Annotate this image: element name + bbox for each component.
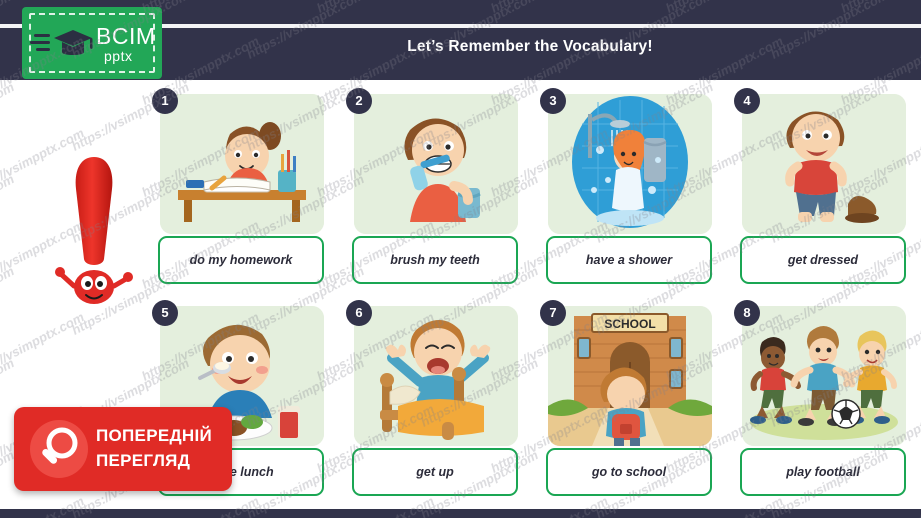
card-image-have-a-shower — [548, 94, 712, 234]
preview-badge-line-1: ПОПЕРЕДНІЙ — [96, 423, 224, 448]
card-number-badge: 4 — [734, 88, 760, 114]
preview-badge: ПОПЕРЕДНІЙ ПЕРЕГЛЯД — [14, 407, 232, 491]
exclamation-mark-character — [52, 155, 136, 305]
logo-brand-text: BCIM — [96, 23, 156, 50]
card-number-badge: 7 — [540, 300, 566, 326]
card-label[interactable]: get up — [352, 448, 518, 496]
watermark-text: https://vsimpptx.com — [0, 263, 17, 338]
preview-badge-line-2: ПЕРЕГЛЯД — [96, 448, 224, 473]
vocabulary-card[interactable]: SCHOOL — [540, 300, 712, 495]
graduation-cap-icon — [52, 27, 94, 61]
card-number-badge: 2 — [346, 88, 372, 114]
bottom-bar-divider — [0, 506, 921, 509]
vocabulary-card-grid: 1 do my homework — [152, 88, 906, 498]
slide-canvas: Let’s Remember the Vocabulary! BCIM pptx — [0, 0, 921, 518]
card-number-badge: 1 — [152, 88, 178, 114]
card-label[interactable]: have a shower — [546, 236, 712, 284]
vocabulary-card[interactable]: 4 get dressed — [734, 88, 906, 283]
card-label[interactable]: play football — [740, 448, 906, 496]
card-image-go-to-school: SCHOOL — [548, 306, 712, 446]
vocabulary-card[interactable]: 1 do my homework — [152, 88, 324, 283]
card-label[interactable]: go to school — [546, 448, 712, 496]
card-image-play-football — [742, 306, 906, 446]
bcim-logo: BCIM pptx — [22, 7, 162, 79]
card-label[interactable]: get dressed — [740, 236, 906, 284]
card-number-badge: 5 — [152, 300, 178, 326]
watermark-text: https://vsimpptx.com — [0, 79, 17, 154]
card-image-do-my-homework — [160, 94, 324, 234]
vocabulary-card[interactable]: 3 have a shower — [540, 88, 712, 283]
card-number-badge: 6 — [346, 300, 372, 326]
watermark-text: https://vsimpptx.com — [0, 309, 87, 384]
card-image-brush-my-teeth — [354, 94, 518, 234]
preview-icon-circle — [30, 420, 88, 478]
card-image-get-dressed — [742, 94, 906, 234]
watermark-text: https://vsimpptx.com — [0, 171, 17, 246]
svg-text:SCHOOL: SCHOOL — [604, 317, 655, 331]
card-label[interactable]: brush my teeth — [352, 236, 518, 284]
vocabulary-card[interactable]: 6 get up — [346, 300, 518, 495]
vocabulary-card[interactable]: 2 brush my teeth — [346, 88, 518, 283]
magnifier-icon — [30, 420, 88, 478]
page-title: Let’s Remember the Vocabulary! — [150, 38, 910, 56]
vocabulary-card[interactable]: 8 play football — [734, 300, 906, 495]
card-image-get-up — [354, 306, 518, 446]
card-label[interactable]: do my homework — [158, 236, 324, 284]
card-number-badge: 3 — [540, 88, 566, 114]
logo-subtitle-text: pptx — [104, 48, 132, 64]
card-number-badge: 8 — [734, 300, 760, 326]
preview-badge-text: ПОПЕРЕДНІЙ ПЕРЕГЛЯД — [96, 423, 224, 473]
